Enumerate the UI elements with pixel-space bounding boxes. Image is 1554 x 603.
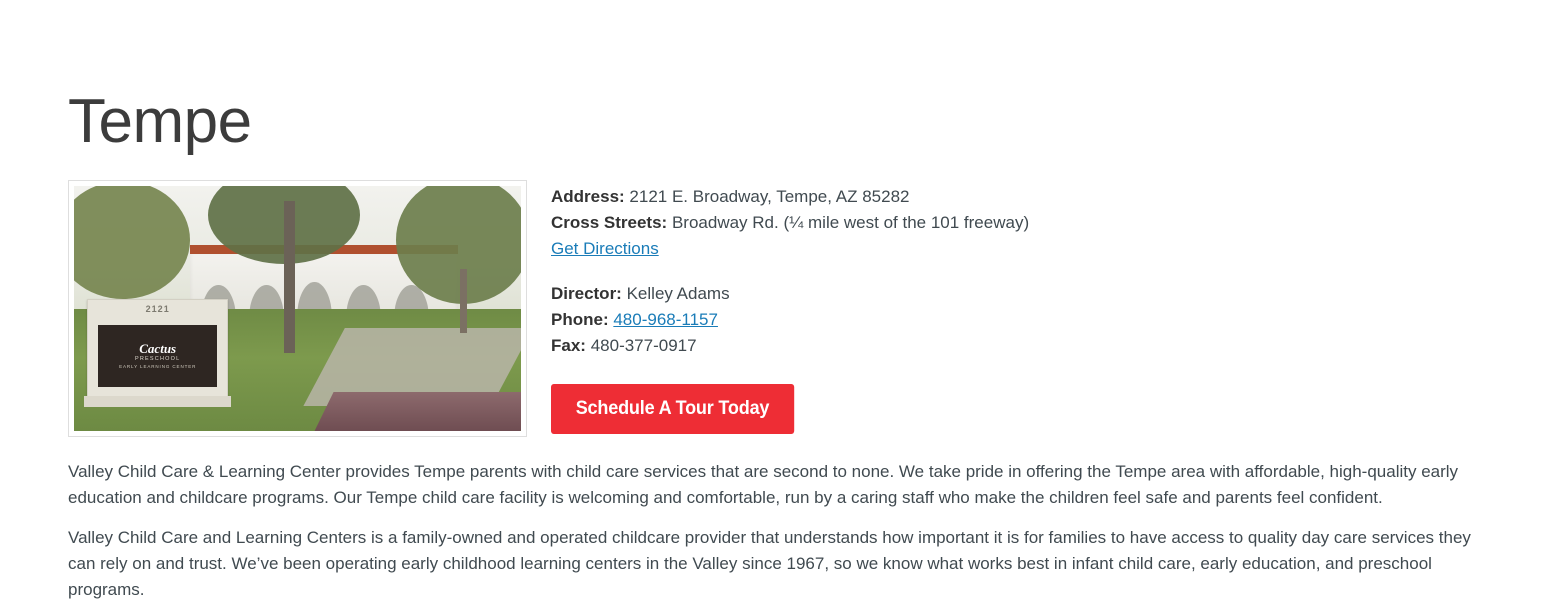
director-value: Kelley Adams: [627, 284, 730, 303]
sign-subtitle-preschool: PRESCHOOL: [135, 356, 180, 363]
fax-line: Fax: 480-377-0917: [551, 333, 1486, 359]
cactus-preschool-building-photo: 2121 Cactus PRESCHOOL EARLY LEARNING CEN…: [74, 186, 521, 431]
address-label: Address:: [551, 187, 625, 206]
photo-monument-sign: 2121 Cactus PRESCHOOL EARLY LEARNING CEN…: [87, 299, 228, 399]
sign-street-number: 2121: [88, 304, 227, 314]
address-line: Address: 2121 E. Broadway, Tempe, AZ 852…: [551, 184, 1486, 210]
fax-value: 480-377-0917: [591, 336, 697, 355]
director-line: Director: Kelley Adams: [551, 281, 1486, 307]
page-root: Tempe: [0, 0, 1554, 603]
get-directions-link[interactable]: Get Directions: [551, 239, 659, 258]
cross-streets-label: Cross Streets:: [551, 213, 667, 232]
page-title: Tempe: [68, 0, 1486, 156]
location-details: Address: 2121 E. Broadway, Tempe, AZ 852…: [551, 180, 1486, 434]
directions-line: Get Directions: [551, 236, 1486, 262]
sign-plaque: Cactus PRESCHOOL EARLY LEARNING CENTER: [98, 325, 217, 387]
sign-brand-name: Cactus: [139, 342, 176, 355]
location-summary-section: 2121 Cactus PRESCHOOL EARLY LEARNING CEN…: [68, 180, 1486, 437]
photo-curb: [315, 392, 521, 431]
cross-streets-line: Cross Streets: Broadway Rd. (¼ mile west…: [551, 210, 1486, 236]
phone-line: Phone: 480-968-1157: [551, 307, 1486, 333]
photo-tree-trunk: [284, 201, 295, 353]
schedule-a-tour-button[interactable]: Schedule A Tour Today: [551, 384, 794, 434]
phone-link[interactable]: 480-968-1157: [613, 310, 718, 329]
description-paragraph: Valley Child Care and Learning Centers i…: [68, 525, 1486, 603]
cross-streets-value: Broadway Rd. (¼ mile west of the 101 fre…: [672, 213, 1029, 232]
address-value: 2121 E. Broadway, Tempe, AZ 85282: [629, 187, 909, 206]
contact-group: Director: Kelley Adams Phone: 480-968-11…: [551, 281, 1486, 359]
address-group: Address: 2121 E. Broadway, Tempe, AZ 852…: [551, 184, 1486, 262]
description-paragraph: Valley Child Care & Learning Center prov…: [68, 459, 1486, 511]
location-description: Valley Child Care & Learning Center prov…: [68, 459, 1486, 603]
director-label: Director:: [551, 284, 622, 303]
photo-tree-trunk: [460, 269, 467, 333]
fax-label: Fax:: [551, 336, 586, 355]
sign-subtitle-learning-center: EARLY LEARNING CENTER: [119, 364, 196, 370]
location-photo-frame: 2121 Cactus PRESCHOOL EARLY LEARNING CEN…: [68, 180, 527, 437]
sign-base: [84, 396, 231, 407]
phone-label: Phone:: [551, 310, 609, 329]
